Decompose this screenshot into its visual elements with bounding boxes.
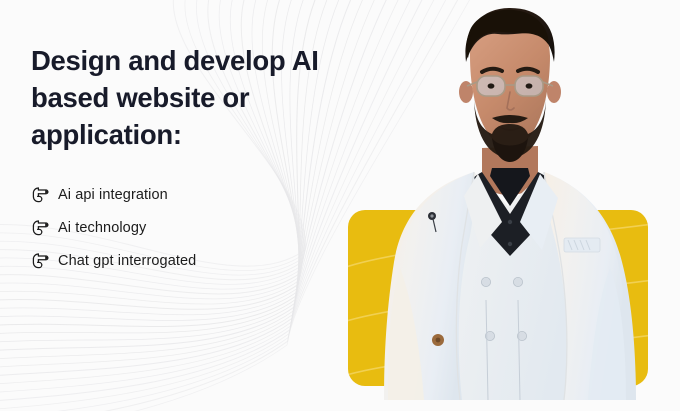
banner-canvas: Design and develop AI based website or a… — [0, 0, 680, 411]
headline-line-2: based website or — [31, 79, 391, 116]
pointing-hand-icon — [28, 218, 50, 238]
pointing-hand-icon — [28, 185, 50, 205]
list-item: Ai technology — [28, 216, 196, 240]
person-portrait — [378, 0, 680, 400]
list-item: Ai api integration — [28, 183, 196, 207]
feature-list: Ai api integration Ai technology Chat gp… — [28, 183, 196, 282]
pointing-hand-icon — [28, 251, 50, 271]
list-item: Chat gpt interrogated — [28, 249, 196, 273]
list-item-label: Chat gpt interrogated — [58, 251, 196, 271]
headline-line-1: Design and develop AI — [31, 42, 391, 79]
page-title: Design and develop AI based website or a… — [31, 42, 391, 153]
list-item-label: Ai technology — [58, 218, 146, 238]
list-item-label: Ai api integration — [58, 185, 168, 205]
headline-line-3: application: — [31, 116, 391, 153]
